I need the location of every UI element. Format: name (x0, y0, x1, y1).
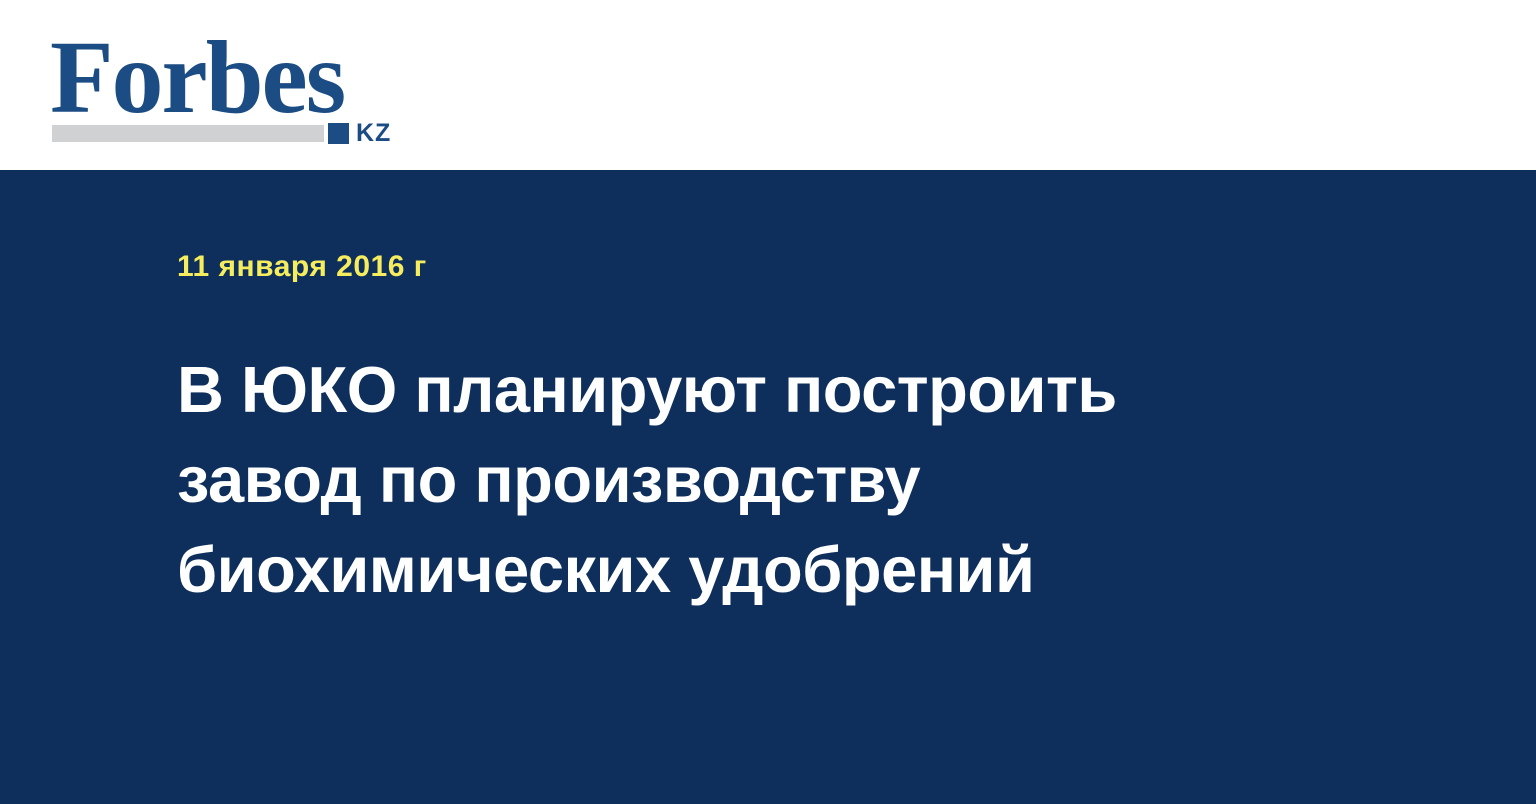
article-hero-page: Forbes KZ 11 января 2016 г В ЮКО планиру… (0, 0, 1536, 804)
logo-tld-group: KZ (328, 121, 391, 146)
forbes-kz-logo[interactable]: Forbes KZ (50, 26, 410, 146)
article-publish-date: 11 января 2016 г (177, 250, 427, 284)
article-headline-line: завод по производству (177, 435, 1277, 525)
forbes-wordmark: Forbes (50, 26, 344, 130)
article-headline-line: В ЮКО планируют построить (177, 345, 1277, 435)
filled-square-icon (328, 123, 349, 144)
logo-tld-label: KZ (356, 121, 391, 146)
logo-underline-bar (52, 125, 324, 142)
article-hero: 11 января 2016 г В ЮКО планируют построи… (0, 170, 1536, 804)
article-headline: В ЮКО планируют построить завод по произ… (177, 345, 1277, 615)
article-headline-line: биохимических удобрений (177, 525, 1277, 615)
site-header: Forbes KZ (0, 0, 1536, 170)
